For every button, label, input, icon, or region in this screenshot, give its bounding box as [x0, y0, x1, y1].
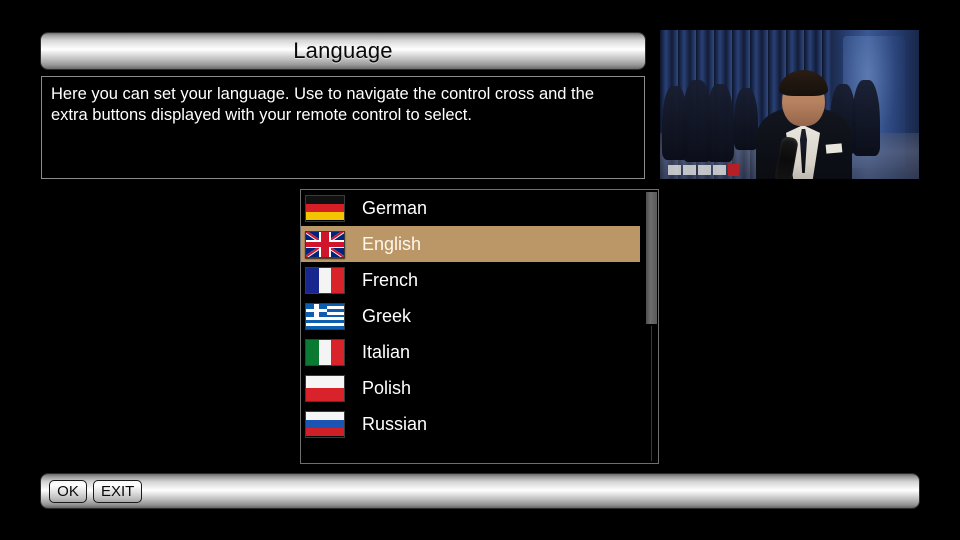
flag-fr-icon: [305, 267, 345, 294]
list-item-label: German: [362, 198, 427, 219]
list-item[interactable]: Italian: [301, 334, 640, 370]
language-list-panel: German English: [300, 189, 659, 464]
logo-block-accent: [728, 164, 739, 176]
scrollbar-rail: [651, 326, 652, 461]
logo-block: [668, 165, 681, 175]
help-panel: Here you can set your language. Use to n…: [41, 76, 645, 179]
list-item-label: Greek: [362, 306, 411, 327]
language-list: German English: [301, 190, 640, 442]
video-crowd-figure: [852, 80, 880, 156]
list-item-label: Polish: [362, 378, 411, 399]
video-crowd-figure: [706, 84, 734, 162]
exit-button[interactable]: EXIT: [93, 480, 142, 503]
list-item-label: Russian: [362, 414, 427, 435]
flag-ru-icon: [305, 411, 345, 438]
title-bar: Language: [41, 33, 645, 69]
list-item-label: Italian: [362, 342, 410, 363]
exit-button-label: EXIT: [101, 483, 134, 500]
list-item[interactable]: Greek: [301, 298, 640, 334]
video-reporter-pocket-square: [826, 143, 843, 153]
tv-settings-screen: Language Here you can set your language.…: [0, 0, 960, 540]
video-crowd-figure: [734, 88, 758, 150]
list-item-label: French: [362, 270, 418, 291]
page-title: Language: [293, 38, 392, 64]
ok-button[interactable]: OK: [49, 480, 87, 503]
list-item[interactable]: Polish: [301, 370, 640, 406]
video-preview[interactable]: [660, 30, 919, 179]
bottom-button-bar: OK EXIT: [41, 474, 919, 508]
logo-block: [683, 165, 696, 175]
flag-gr-icon: [305, 303, 345, 330]
flag-it-icon: [305, 339, 345, 366]
logo-block: [698, 165, 711, 175]
list-item[interactable]: German: [301, 190, 640, 226]
flag-gb-icon: [305, 231, 345, 258]
list-item-label: English: [362, 234, 421, 255]
scrollbar-thumb[interactable]: [646, 192, 657, 324]
flag-pl-icon: [305, 375, 345, 402]
list-item[interactable]: English: [301, 226, 640, 262]
news-channel-logo: [668, 164, 754, 176]
logo-block: [713, 165, 726, 175]
help-text: Here you can set your language. Use to n…: [51, 84, 631, 126]
ok-button-label: OK: [57, 483, 79, 500]
list-item[interactable]: Russian: [301, 406, 640, 442]
list-scrollbar[interactable]: [646, 190, 657, 463]
flag-de-icon: [305, 195, 345, 222]
list-item[interactable]: French: [301, 262, 640, 298]
